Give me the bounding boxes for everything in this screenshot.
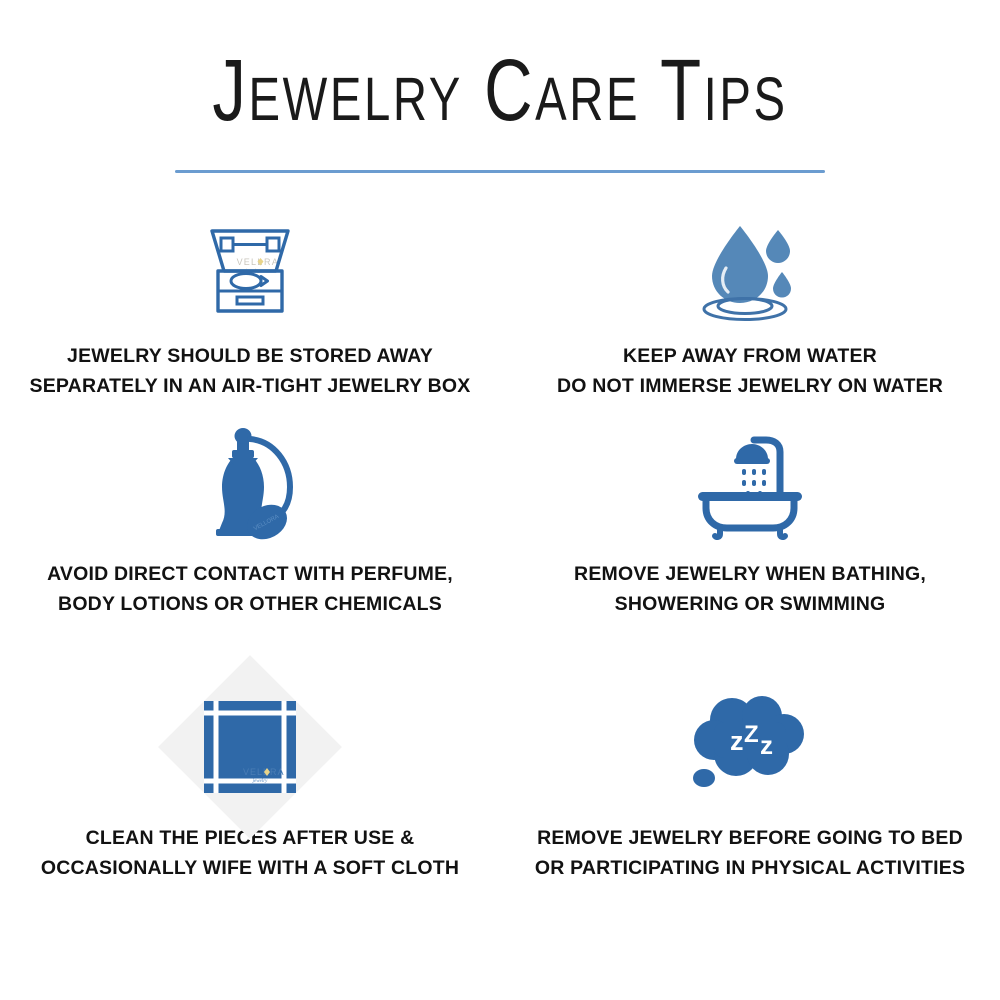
tip-jewelry-box: VELL RA jewelry — [0, 217, 500, 401]
tip-caption-line2: DO NOT IMMERSE JEWELRY ON WATER — [557, 371, 943, 401]
tip-caption-line2: SEPARATELY IN AN AIR-TIGHT JEWELRY BOX — [30, 371, 471, 401]
tip-caption-line2: OR PARTICIPATING IN PHYSICAL ACTIVITIES — [535, 853, 965, 883]
tip-water: KEEP AWAY FROM WATER DO NOT IMMERSE JEWE… — [500, 217, 1000, 401]
tip-caption-line1: AVOID DIRECT CONTACT WITH PERFUME, — [47, 563, 453, 585]
tip-icon-wrap — [688, 217, 812, 325]
tip-caption-line2: BODY LOTIONS OR OTHER CHEMICALS — [47, 589, 453, 619]
tip-icon-wrap: VELL RA jewelry — [196, 217, 304, 325]
svg-text:RA: RA — [270, 767, 285, 777]
folded-cloth-icon: VELL RA jewelry — [194, 691, 306, 803]
tip-clean-cloth: VELL RA jewelry CLEAN THE PIECES AFTER U… — [0, 687, 500, 883]
tip-perfume: VELLORA AVOID DIRECT CONTACT WITH PERFUM… — [0, 425, 500, 619]
water-drop-icon — [688, 220, 812, 322]
tip-caption-line1: KEEP AWAY FROM WATER — [623, 345, 877, 367]
tip-sleep: z Z z REMOVE JEWELRY BEFORE GOING TO BED… — [500, 687, 1000, 883]
jewelry-box-icon: VELL RA jewelry — [196, 221, 304, 321]
tip-caption-line1: REMOVE JEWELRY WHEN BATHING, — [574, 563, 926, 585]
tip-caption-line2: SHOWERING OR SWIMMING — [574, 589, 926, 619]
infographic-page: Jewelry Care Tips VELL RA jewelry — [0, 0, 1000, 1000]
tip-caption-line2: OCCASIONALLY WIFE WITH A SOFT CLOTH — [41, 853, 459, 883]
divider-wrap — [0, 170, 1000, 173]
svg-text:z: z — [730, 726, 744, 756]
tip-caption: REMOVE JEWELRY BEFORE GOING TO BED OR PA… — [535, 823, 965, 883]
svg-text:jewelry: jewelry — [252, 779, 268, 784]
title-divider — [175, 170, 825, 173]
tip-caption-line1: REMOVE JEWELRY BEFORE GOING TO BED — [537, 827, 963, 849]
tip-caption: REMOVE JEWELRY WHEN BATHING, SHOWERING O… — [574, 559, 926, 619]
tip-caption: JEWELRY SHOULD BE STORED AWAY SEPARATELY… — [30, 341, 471, 401]
tip-caption: AVOID DIRECT CONTACT WITH PERFUME, BODY … — [47, 559, 453, 619]
tip-caption: KEEP AWAY FROM WATER DO NOT IMMERSE JEWE… — [557, 341, 943, 401]
tip-icon-wrap — [688, 425, 812, 543]
tip-bathing: REMOVE JEWELRY WHEN BATHING, SHOWERING O… — [500, 425, 1000, 619]
svg-text:z: z — [760, 730, 773, 760]
svg-text:Z: Z — [744, 721, 759, 748]
bathtub-shower-icon — [688, 428, 812, 540]
tip-icon-wrap: VELLORA — [192, 425, 308, 543]
tips-grid: VELL RA jewelry — [0, 217, 1000, 907]
tip-icon-wrap: VELL RA jewelry — [194, 687, 306, 807]
tip-icon-wrap: z Z z — [686, 687, 814, 807]
tip-caption-line1: JEWELRY SHOULD BE STORED AWAY — [67, 345, 433, 367]
page-title: Jewelry Care Tips — [70, 46, 930, 133]
perfume-bottle-icon: VELLORA — [192, 425, 308, 543]
sleep-cloud-icon: z Z z — [686, 692, 814, 802]
header: Jewelry Care Tips — [0, 0, 1000, 173]
